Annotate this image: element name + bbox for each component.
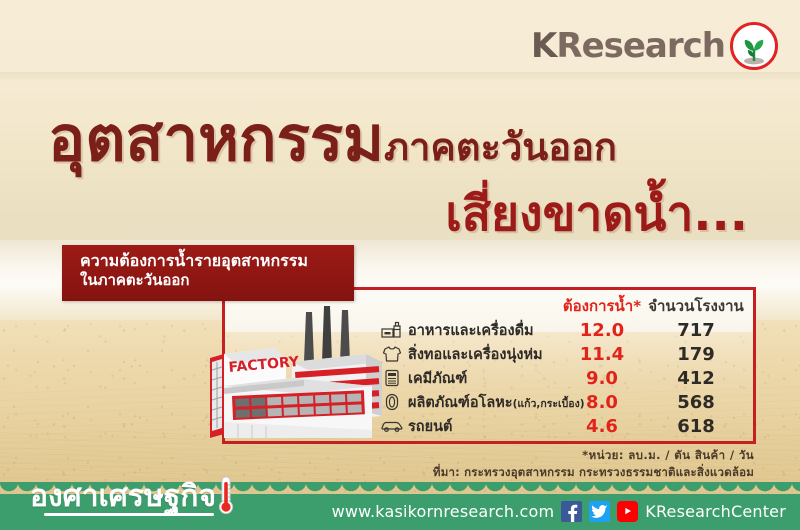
kresearch-k: K bbox=[531, 26, 556, 66]
table-header-water: ต้องการน้ำ* bbox=[562, 294, 642, 318]
row-factory-count: 717 bbox=[642, 320, 750, 341]
table-row: ผลิตภัณฑ์อโลหะ(แก้ว,กระเบื้อง) 8.0 568 bbox=[376, 390, 750, 414]
factory-illustration: FACTORY bbox=[196, 300, 396, 445]
row-water-value: 12.0 bbox=[562, 320, 642, 341]
title-sub: ภาคตะวันออก bbox=[384, 125, 617, 169]
unit-note: *หน่วย: ลบ.ม. / ตัน สินค้า / วัน bbox=[433, 447, 754, 464]
tshirt-icon bbox=[376, 345, 408, 363]
footer-links: www.kasikornresearch.com KResearchCenter bbox=[332, 500, 786, 522]
social-handle[interactable]: KResearchCenter bbox=[645, 502, 786, 521]
row-label: เคมีภัณฑ์ bbox=[408, 367, 562, 390]
car-icon bbox=[376, 419, 408, 433]
title-main: อุตสาหกรรม bbox=[48, 102, 384, 175]
infographic-page: KResearch อุตสาหกรรมภาคตะวันออก เสี่ยงขา… bbox=[0, 0, 800, 530]
sprout-icon bbox=[730, 22, 778, 70]
table-row: รถยนต์ 4.6 618 bbox=[376, 414, 750, 438]
source-note: ที่มา: กระทรวงอุตสาหกรรม กระทรวงธรรมชาติ… bbox=[433, 464, 754, 481]
row-label-text: ผลิตภัณฑ์อโลหะ bbox=[408, 395, 513, 411]
water-demand-table: ต้องการน้ำ* จำนวนโรงงาน อาหารและเครื่องด… bbox=[376, 292, 750, 438]
row-water-value: 4.6 bbox=[562, 416, 642, 437]
row-label-text: รถยนต์ bbox=[408, 419, 452, 435]
row-water-value: 8.0 bbox=[562, 392, 642, 413]
table-row: เคมีภัณฑ์ 9.0 412 bbox=[376, 366, 750, 390]
table-header-factories: จำนวนโรงงาน bbox=[642, 294, 750, 318]
chemical-icon bbox=[376, 369, 408, 387]
table-row: สิ่งทอและเครื่องนุ่งห่ม 11.4 179 bbox=[376, 342, 750, 366]
row-label: อาหารและเครื่องดื่ม bbox=[408, 319, 562, 342]
banner-line-1: ความต้องการน้ำรายอุตสาหกรรม bbox=[80, 251, 354, 271]
website-url[interactable]: www.kasikornresearch.com bbox=[332, 502, 555, 521]
kresearch-research: Research bbox=[556, 26, 725, 66]
row-label: ผลิตภัณฑ์อโลหะ(แก้ว,กระเบื้อง) bbox=[408, 391, 562, 414]
table-row: อาหารและเครื่องดื่ม 12.0 717 bbox=[376, 318, 750, 342]
kresearch-wordmark: KResearch bbox=[531, 29, 725, 63]
nonmetal-product-icon bbox=[376, 393, 408, 411]
row-water-value: 9.0 bbox=[562, 368, 642, 389]
food-beverage-icon bbox=[376, 321, 408, 339]
row-label-text: อาหารและเครื่องดื่ม bbox=[408, 323, 534, 339]
kresearch-logo: KResearch bbox=[531, 22, 778, 70]
row-factory-count: 179 bbox=[642, 344, 750, 365]
youtube-icon[interactable] bbox=[617, 501, 638, 522]
page-title: อุตสาหกรรมภาคตะวันออก bbox=[48, 108, 617, 170]
row-label: สิ่งทอและเครื่องนุ่งห่ม bbox=[408, 343, 562, 366]
row-factory-count: 412 bbox=[642, 368, 750, 389]
page-subtitle: เสี่ยงขาดน้ำ... bbox=[445, 190, 748, 238]
ongsa-brand-text: องศาเศรษฐกิจ bbox=[30, 482, 216, 512]
row-factory-count: 618 bbox=[642, 416, 750, 437]
row-label-text: สิ่งทอและเครื่องนุ่งห่ม bbox=[408, 347, 543, 363]
table-header-row: ต้องการน้ำ* จำนวนโรงงาน bbox=[376, 292, 750, 318]
row-water-value: 11.4 bbox=[562, 344, 642, 365]
row-label-text: เคมีภัณฑ์ bbox=[408, 371, 467, 387]
sky-band bbox=[0, 72, 800, 82]
section-banner: ความต้องการน้ำรายอุตสาหกรรม ในภาคตะวันออ… bbox=[62, 245, 354, 301]
facebook-icon[interactable] bbox=[561, 501, 582, 522]
footnotes: *หน่วย: ลบ.ม. / ตัน สินค้า / วัน ที่มา: … bbox=[433, 447, 754, 482]
twitter-icon[interactable] bbox=[589, 501, 610, 522]
row-label: รถยนต์ bbox=[408, 415, 562, 438]
thermometer-icon bbox=[216, 476, 236, 520]
ongsa-brand-logo: องศาเศรษฐกิจ bbox=[30, 482, 216, 512]
banner-line-2: ในภาคตะวันออก bbox=[80, 271, 354, 290]
row-factory-count: 568 bbox=[642, 392, 750, 413]
brand-underline-right bbox=[152, 513, 214, 516]
